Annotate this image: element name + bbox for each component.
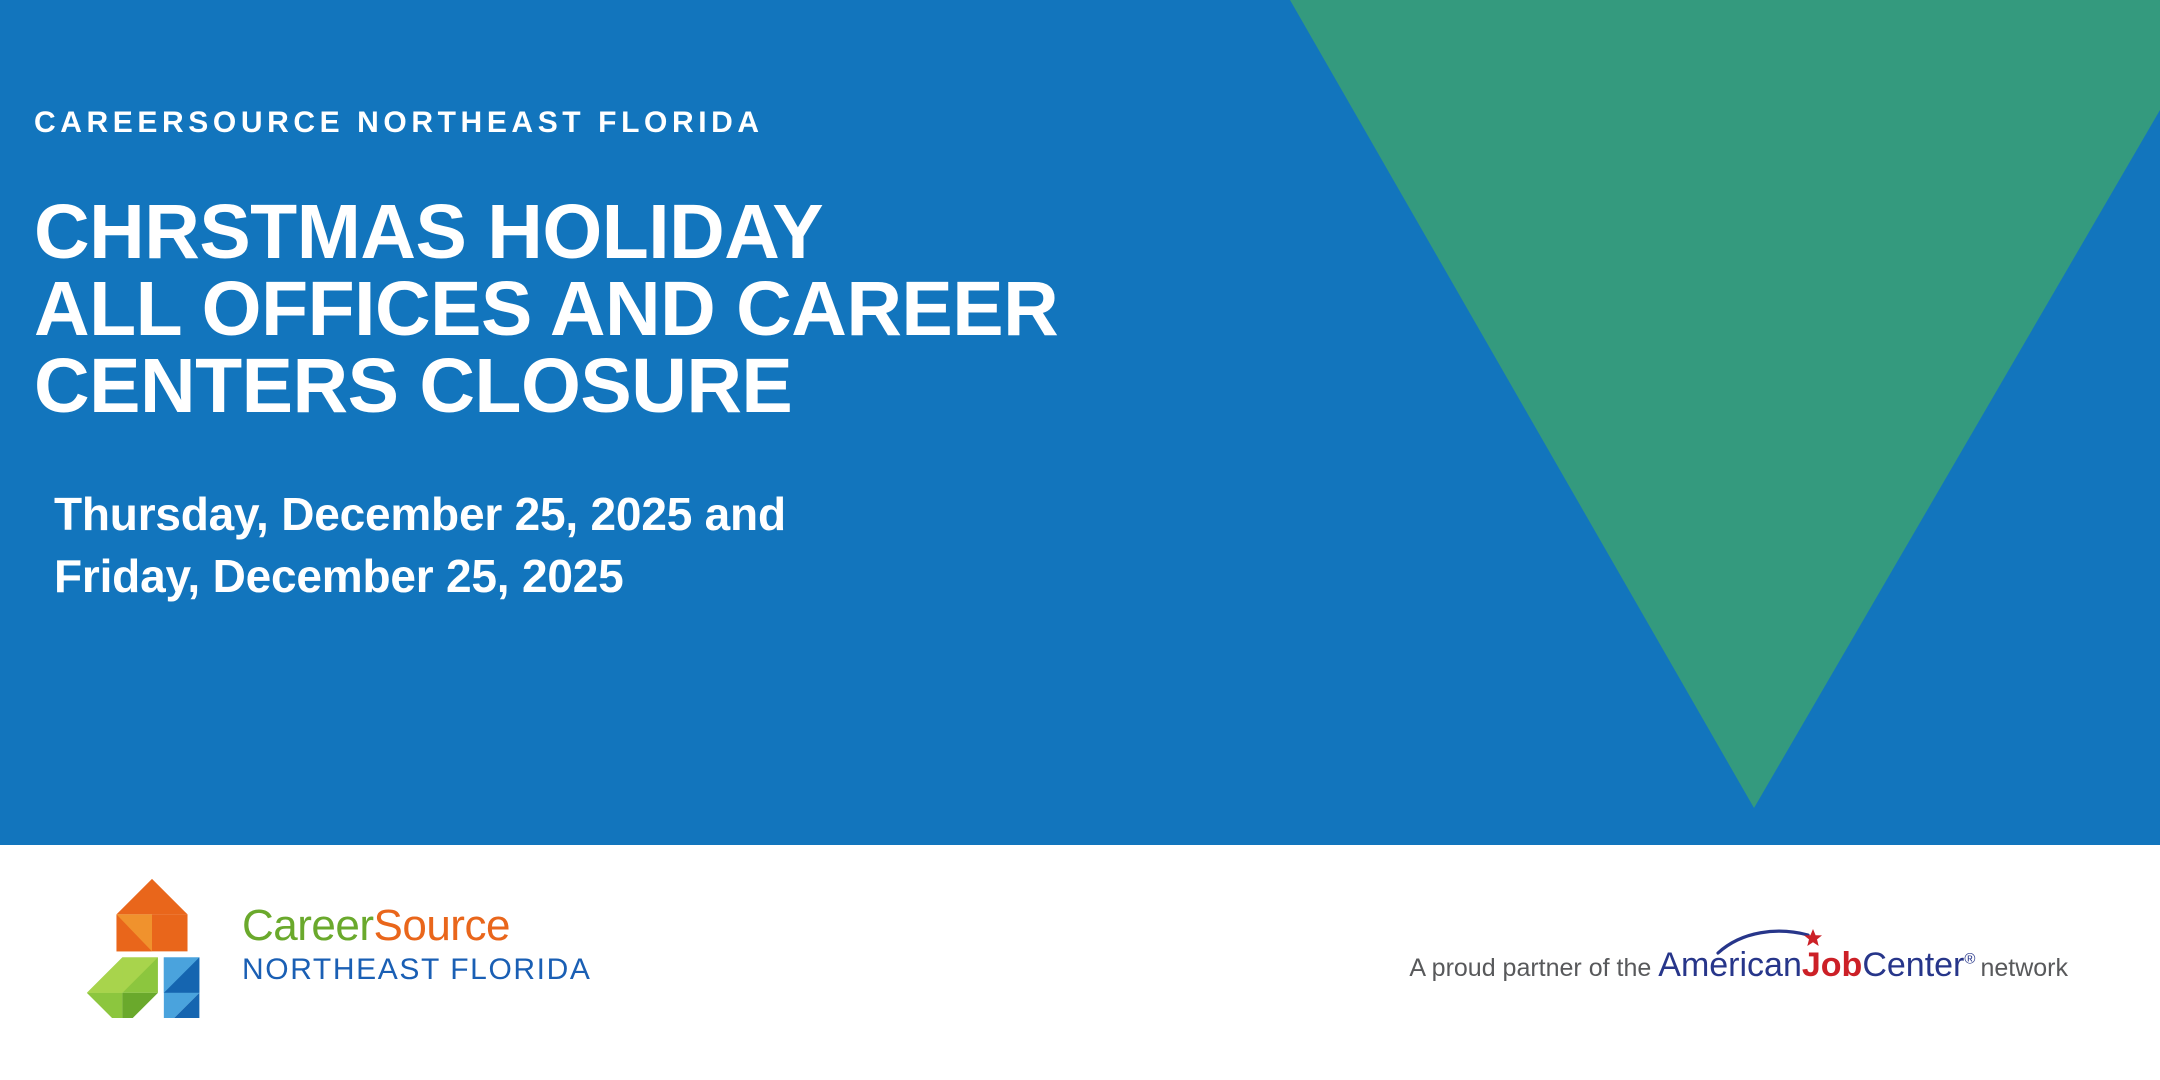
logo-word-career: Career <box>242 901 374 950</box>
registered-trademark-mark: ® <box>1964 951 1975 968</box>
footer-bar: CareerSource NORTHEAST FLORIDA A proud p… <box>0 845 2160 1080</box>
holiday-closure-banner: CAREERSOURCE NORTHEAST FLORIDA CHRSTMAS … <box>0 0 2160 1080</box>
american-job-center-logo: AmericanJobCenter® <box>1658 948 1975 982</box>
american-job-center-partner[interactable]: A proud partner of the AmericanJobCenter… <box>1409 948 2068 983</box>
hero-panel: CAREERSOURCE NORTHEAST FLORIDA CHRSTMAS … <box>0 0 2160 845</box>
logo-wordmark-top: CareerSource <box>242 904 591 948</box>
careersource-logo[interactable]: CareerSource NORTHEAST FLORIDA <box>78 870 591 1018</box>
partner-tail-text: network <box>1980 954 2068 983</box>
logo-wordmark: CareerSource NORTHEAST FLORIDA <box>242 904 591 985</box>
headline-line-1: CHRSTMAS HOLIDAY <box>34 194 1334 271</box>
page-title: CHRSTMAS HOLIDAY ALL OFFICES AND CAREER … <box>34 138 1334 425</box>
hero-text-block: CAREERSOURCE NORTHEAST FLORIDA CHRSTMAS … <box>34 0 1334 607</box>
careersource-pinwheel-icon <box>78 870 226 1018</box>
closure-date-line-2: Friday, December 25, 2025 <box>54 545 1334 607</box>
organization-eyebrow: CAREERSOURCE NORTHEAST FLORIDA <box>34 0 1334 138</box>
logo-wordmark-region: NORTHEAST FLORIDA <box>242 955 591 985</box>
ajc-word-center: Center <box>1862 946 1964 984</box>
partner-lead-text: A proud partner of the <box>1409 954 1651 983</box>
headline-line-3: CENTERS CLOSURE <box>34 348 1334 425</box>
headline-line-2: ALL OFFICES AND CAREER <box>34 271 1334 348</box>
ajc-swoosh-star-icon <box>1716 929 1834 955</box>
closure-dates: Thursday, December 25, 2025 and Friday, … <box>34 425 1334 607</box>
closure-date-line-1: Thursday, December 25, 2025 and <box>54 483 1334 545</box>
logo-word-source: Source <box>374 901 510 950</box>
